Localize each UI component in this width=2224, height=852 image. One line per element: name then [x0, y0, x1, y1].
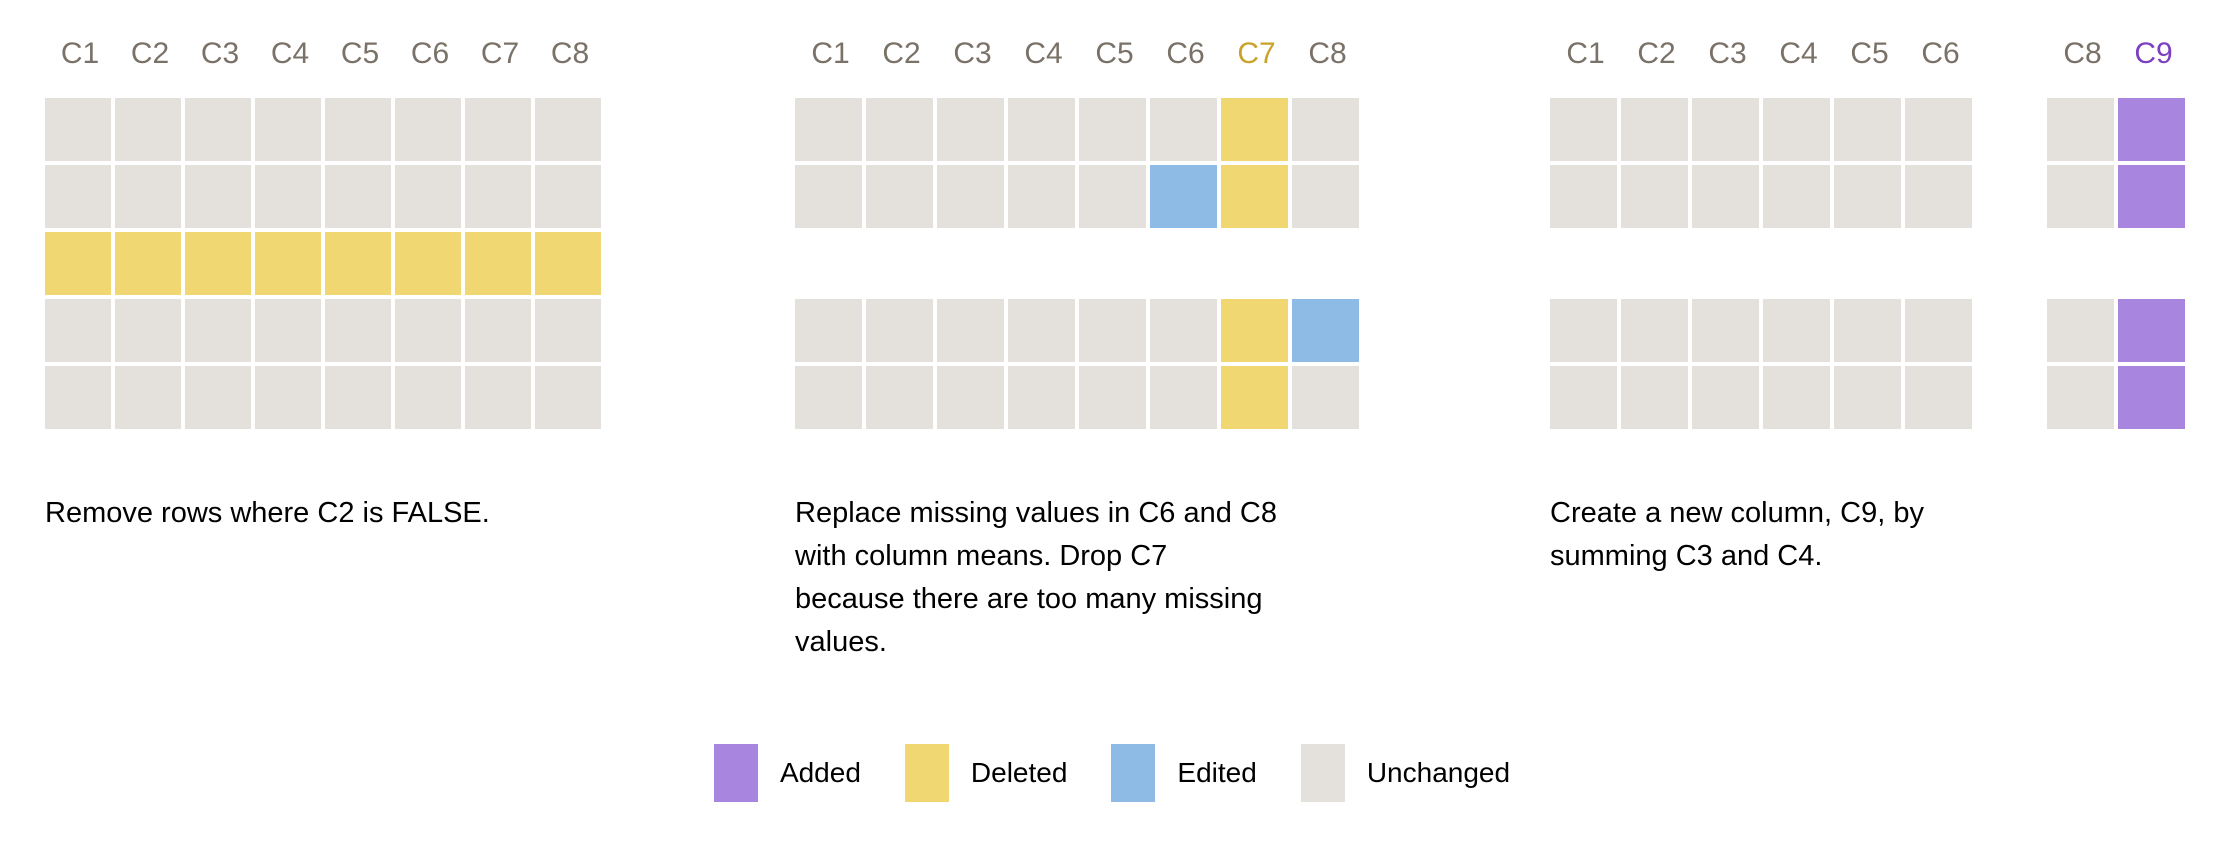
- grid-cell: [2047, 366, 2114, 429]
- grid-cell: [1834, 98, 1901, 161]
- panel-caption-3: Create a new column, C9, by summing C3 a…: [1550, 492, 2070, 578]
- grid-cell: [1008, 299, 1075, 362]
- column-header-c6: C6: [395, 34, 465, 74]
- data-grid-panel-1: [45, 98, 606, 443]
- grid-cell: [1221, 98, 1288, 161]
- grid-cell: [325, 165, 391, 228]
- legend-item-deleted: Deleted: [905, 744, 1068, 802]
- grid-cell: [115, 165, 181, 228]
- grid-cell: [465, 98, 531, 161]
- grid-cell: [1692, 98, 1759, 161]
- column-header-c6: C6: [1905, 34, 1976, 74]
- grid-cell: [1008, 366, 1075, 429]
- grid-cell: [395, 232, 461, 295]
- grid-cell: [185, 232, 251, 295]
- grid-cell: [465, 366, 531, 429]
- column-header-dropped-slot: [1976, 34, 2047, 74]
- column-header-c5: C5: [1079, 34, 1150, 74]
- column-header-c7: C7: [1221, 34, 1292, 74]
- grid-cell: [115, 366, 181, 429]
- grid-cell-removed: [1621, 232, 1688, 295]
- diagram-canvas: C1 C2 C3 C4 C5 C6 C7 C8: [0, 0, 2224, 852]
- column-header-row-panel-3: C1 C2 C3 C4 C5 C6 C8 C9: [1550, 34, 2190, 74]
- caption-line: summing C3 and C4.: [1550, 535, 2070, 578]
- column-header-c1: C1: [1550, 34, 1621, 74]
- legend: Added Deleted Edited Unchanged: [0, 744, 2224, 802]
- grid-cell: [795, 366, 862, 429]
- grid-cell: [325, 232, 391, 295]
- grid-cell: [255, 98, 321, 161]
- grid-cell: [1079, 165, 1146, 228]
- legend-swatch-deleted: [905, 744, 949, 802]
- grid-cell-dropped: [1976, 165, 2043, 228]
- legend-label: Edited: [1177, 757, 1256, 789]
- grid-cell: [1905, 98, 1972, 161]
- column-header-c5: C5: [1834, 34, 1905, 74]
- grid-cell-removed: [2118, 232, 2185, 295]
- grid-cell-removed: [1692, 232, 1759, 295]
- grid-cell: [115, 98, 181, 161]
- legend-label: Added: [780, 757, 861, 789]
- grid-cell: [1621, 299, 1688, 362]
- grid-cell: [1692, 299, 1759, 362]
- panel-caption-2: Replace missing values in C6 and C8 with…: [795, 492, 1415, 664]
- grid-cell: [1150, 366, 1217, 429]
- grid-cell: [255, 366, 321, 429]
- column-header-c5: C5: [325, 34, 395, 74]
- grid-cell: [395, 299, 461, 362]
- grid-cell: [1150, 299, 1217, 362]
- grid-cell-removed: [1834, 232, 1901, 295]
- grid-cell: [1292, 98, 1359, 161]
- grid-cell: [795, 98, 862, 161]
- legend-item-unchanged: Unchanged: [1301, 744, 1510, 802]
- grid-cell: [185, 98, 251, 161]
- grid-cell: [1834, 366, 1901, 429]
- grid-cell: [2047, 98, 2114, 161]
- grid-cell: [1621, 366, 1688, 429]
- column-header-c8: C8: [2047, 34, 2118, 74]
- grid-cell: [1550, 98, 1617, 161]
- grid-cell: [2047, 165, 2114, 228]
- grid-cell: [1221, 299, 1288, 362]
- column-header-c1: C1: [45, 34, 115, 74]
- grid-cell: [795, 165, 862, 228]
- grid-cell: [1763, 165, 1830, 228]
- grid-cell: [395, 366, 461, 429]
- legend-item-edited: Edited: [1111, 744, 1256, 802]
- grid-cell: [1150, 98, 1217, 161]
- grid-cell: [395, 98, 461, 161]
- grid-cell: [1621, 165, 1688, 228]
- grid-cell: [45, 299, 111, 362]
- column-header-c9: C9: [2118, 34, 2189, 74]
- column-header-c2: C2: [115, 34, 185, 74]
- grid-cell: [1621, 98, 1688, 161]
- grid-cell: [1763, 98, 1830, 161]
- grid-cell: [937, 98, 1004, 161]
- column-header-row-panel-2: C1 C2 C3 C4 C5 C6 C7 C8: [795, 34, 1370, 74]
- grid-cell: [45, 232, 111, 295]
- grid-cell: [1763, 299, 1830, 362]
- grid-cell-removed: [1008, 232, 1075, 295]
- grid-cell: [2118, 366, 2185, 429]
- grid-cell: [1550, 165, 1617, 228]
- caption-line: values.: [795, 621, 1415, 664]
- grid-cell-removed: [1550, 232, 1617, 295]
- grid-cell: [185, 299, 251, 362]
- grid-cell: [1905, 165, 1972, 228]
- grid-cell: [1905, 366, 1972, 429]
- grid-cell: [937, 366, 1004, 429]
- caption-line: Replace missing values in C6 and C8: [795, 492, 1415, 535]
- legend-label: Deleted: [971, 757, 1068, 789]
- grid-cell: [1905, 299, 1972, 362]
- column-header-c4: C4: [255, 34, 325, 74]
- grid-cell: [45, 366, 111, 429]
- grid-cell: [1834, 165, 1901, 228]
- grid-cell: [115, 232, 181, 295]
- grid-cell-removed: [1763, 232, 1830, 295]
- grid-cell-removed: [1976, 232, 2043, 295]
- grid-cell: [1221, 366, 1288, 429]
- grid-cell: [1834, 299, 1901, 362]
- grid-cell: [325, 98, 391, 161]
- grid-cell: [1550, 366, 1617, 429]
- grid-cell: [465, 165, 531, 228]
- grid-cell: [535, 299, 601, 362]
- grid-cell: [1008, 165, 1075, 228]
- column-header-c3: C3: [937, 34, 1008, 74]
- caption-line: Remove rows where C2 is FALSE.: [45, 492, 645, 535]
- grid-cell: [2118, 165, 2185, 228]
- grid-cell: [115, 299, 181, 362]
- grid-cell: [465, 299, 531, 362]
- grid-cell: [866, 165, 933, 228]
- panel-caption-1: Remove rows where C2 is FALSE.: [45, 492, 645, 535]
- column-header-row-panel-1: C1 C2 C3 C4 C5 C6 C7 C8: [45, 34, 610, 74]
- grid-cell: [1550, 299, 1617, 362]
- grid-cell: [255, 232, 321, 295]
- grid-cell: [535, 98, 601, 161]
- grid-cell: [1008, 98, 1075, 161]
- data-grid-panel-3: [1550, 98, 2185, 443]
- grid-cell: [1292, 165, 1359, 228]
- column-header-c3: C3: [1692, 34, 1763, 74]
- grid-cell: [1079, 299, 1146, 362]
- column-header-c2: C2: [866, 34, 937, 74]
- grid-cell: [325, 366, 391, 429]
- grid-cell: [1692, 366, 1759, 429]
- grid-cell: [185, 366, 251, 429]
- data-grid-panel-2: [795, 98, 1360, 443]
- grid-cell: [535, 366, 601, 429]
- grid-cell-removed: [866, 232, 933, 295]
- legend-label: Unchanged: [1367, 757, 1510, 789]
- grid-cell: [1150, 165, 1217, 228]
- grid-cell: [866, 98, 933, 161]
- legend-item-added: Added: [714, 744, 861, 802]
- grid-cell: [2118, 299, 2185, 362]
- grid-cell-removed: [1079, 232, 1146, 295]
- column-header-c3: C3: [185, 34, 255, 74]
- grid-cell: [1763, 366, 1830, 429]
- grid-cell: [866, 299, 933, 362]
- grid-cell-removed: [1292, 232, 1359, 295]
- grid-cell-dropped: [1976, 299, 2043, 362]
- column-header-c1: C1: [795, 34, 866, 74]
- grid-cell: [325, 299, 391, 362]
- grid-cell-removed: [795, 232, 862, 295]
- column-header-c4: C4: [1763, 34, 1834, 74]
- grid-cell: [2047, 299, 2114, 362]
- grid-cell-removed: [2047, 232, 2114, 295]
- grid-cell-removed: [1221, 232, 1288, 295]
- grid-cell: [1292, 366, 1359, 429]
- grid-cell-dropped: [1976, 366, 2043, 429]
- grid-cell: [866, 366, 933, 429]
- column-header-c8: C8: [535, 34, 605, 74]
- grid-cell-removed: [1150, 232, 1217, 295]
- grid-cell: [2118, 98, 2185, 161]
- grid-cell: [45, 165, 111, 228]
- grid-cell: [185, 165, 251, 228]
- column-header-c4: C4: [1008, 34, 1079, 74]
- grid-cell: [1079, 366, 1146, 429]
- grid-cell: [1292, 299, 1359, 362]
- grid-cell: [937, 299, 1004, 362]
- grid-cell: [535, 232, 601, 295]
- column-header-c2: C2: [1621, 34, 1692, 74]
- grid-cell: [937, 165, 1004, 228]
- caption-line: because there are too many missing: [795, 578, 1415, 621]
- grid-cell: [1221, 165, 1288, 228]
- caption-line: Create a new column, C9, by: [1550, 492, 2070, 535]
- legend-swatch-edited: [1111, 744, 1155, 802]
- grid-cell: [1692, 165, 1759, 228]
- grid-cell: [535, 165, 601, 228]
- grid-cell-removed: [1905, 232, 1972, 295]
- column-header-c7: C7: [465, 34, 535, 74]
- grid-cell: [465, 232, 531, 295]
- legend-swatch-added: [714, 744, 758, 802]
- grid-cell: [795, 299, 862, 362]
- grid-cell-dropped: [1976, 98, 2043, 161]
- caption-line: with column means. Drop C7: [795, 535, 1415, 578]
- legend-swatch-unchanged: [1301, 744, 1345, 802]
- grid-cell: [255, 299, 321, 362]
- column-header-c8: C8: [1292, 34, 1363, 74]
- grid-cell-removed: [937, 232, 1004, 295]
- column-header-c6: C6: [1150, 34, 1221, 74]
- grid-cell: [395, 165, 461, 228]
- grid-cell: [1079, 98, 1146, 161]
- grid-cell: [255, 165, 321, 228]
- grid-cell: [45, 98, 111, 161]
